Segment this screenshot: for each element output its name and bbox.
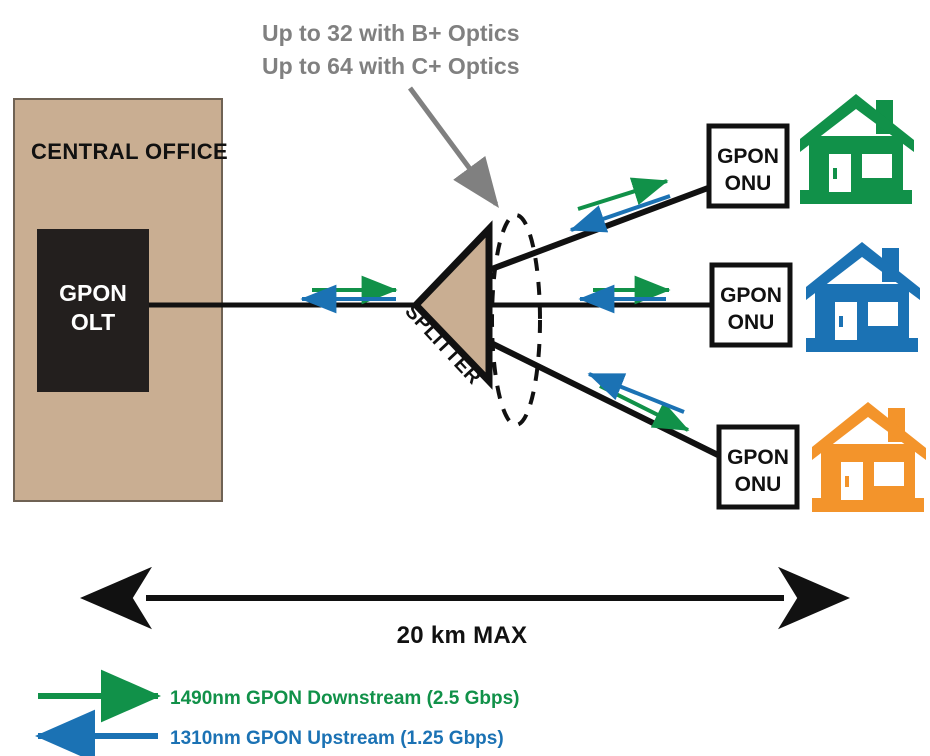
- orange-house: [812, 402, 926, 512]
- optical-splitter[interactable]: SPLITTER: [400, 229, 489, 389]
- split-plane-ellipse: [492, 215, 540, 425]
- green-house-window: [862, 154, 892, 178]
- legend-label-downstream: 1490nm GPON Downstream (2.5 Gbps): [170, 688, 520, 709]
- splitter-annotation: Up to 32 with B+ Optics Up to 64 with C+…: [262, 20, 520, 204]
- annotation-pointer-arrow-icon: [410, 88, 496, 204]
- gpon-onu-lower[interactable]: GPON ONU: [719, 427, 797, 507]
- upper-downstream-arrow-icon: [578, 181, 667, 209]
- legend-item-downstream: 1490nm GPON Downstream (2.5 Gbps): [38, 688, 520, 709]
- blue-house-door-handle: [839, 316, 843, 327]
- upper-upstream-arrow-icon: [571, 196, 670, 230]
- gpon-onu-upper[interactable]: GPON ONU: [709, 126, 787, 206]
- green-house-door-handle: [833, 168, 837, 179]
- onu-upper-label-line2: ONU: [725, 172, 772, 195]
- orange-house-door: [841, 462, 863, 500]
- onu-middle-label-line2: ONU: [728, 311, 775, 334]
- gpon-olt-device[interactable]: GPON OLT: [37, 229, 149, 392]
- gpon-olt-label-line2: OLT: [71, 309, 115, 335]
- diagram-canvas: Up to 32 with B+ Optics Up to 64 with C+…: [0, 0, 930, 756]
- gpon-onu-middle[interactable]: GPON ONU: [712, 265, 790, 345]
- gpon-network-diagram: Up to 32 with B+ Optics Up to 64 with C+…: [0, 0, 930, 756]
- branch-middle-signals: [580, 290, 669, 299]
- onu-upper-label-line1: GPON: [717, 145, 779, 168]
- branch-upper-fiber: [489, 182, 724, 270]
- blue-house: [806, 242, 920, 352]
- blue-house-door: [835, 302, 857, 340]
- distance-measure: 20 km MAX: [146, 598, 784, 649]
- green-house: [800, 94, 914, 204]
- central-office-title: CENTRAL OFFICE: [31, 139, 228, 164]
- blue-house-window: [868, 302, 898, 326]
- onu-lower-label-line1: GPON: [727, 446, 789, 469]
- onu-lower-label-line2: ONU: [735, 473, 782, 496]
- distance-label: 20 km MAX: [397, 622, 528, 649]
- central-office-block[interactable]: CENTRAL OFFICE GPON OLT: [14, 99, 228, 501]
- annotation-line-2: Up to 64 with C+ Optics: [262, 53, 520, 79]
- onu-middle-label-line1: GPON: [720, 284, 782, 307]
- orange-house-window: [874, 462, 904, 486]
- gpon-olt-label-line1: GPON: [59, 280, 127, 306]
- legend: 1490nm GPON Downstream (2.5 Gbps) 1310nm…: [38, 688, 520, 749]
- branch-lower-fiber: [489, 342, 724, 458]
- annotation-line-1: Up to 32 with B+ Optics: [262, 20, 520, 46]
- orange-house-door-handle: [845, 476, 849, 487]
- green-house-door: [829, 154, 851, 192]
- legend-label-upstream: 1310nm GPON Upstream (1.25 Gbps): [170, 728, 504, 749]
- legend-item-upstream: 1310nm GPON Upstream (1.25 Gbps): [38, 728, 504, 749]
